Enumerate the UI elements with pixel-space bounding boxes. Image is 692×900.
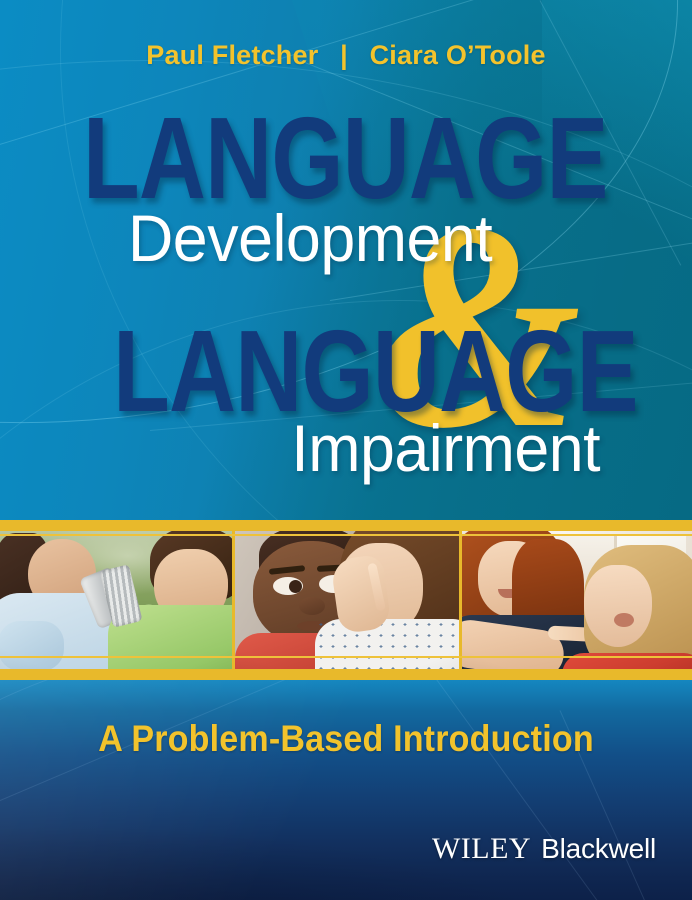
photo-strip-rule-top [0, 534, 692, 536]
mouth [614, 613, 634, 627]
title-line-1-development: Development [128, 205, 492, 271]
lower-panel [0, 680, 692, 900]
title-block: & LANGUAGE Development LANGUAGE Impairme… [0, 105, 692, 505]
book-cover: Paul Fletcher | Ciara O’Toole & LANGUAGE… [0, 0, 692, 900]
author-name-primary: Paul Fletcher [146, 40, 318, 70]
photo-strip-inner [0, 531, 692, 669]
photo-whispering-children [232, 531, 462, 669]
authors-line: Paul Fletcher | Ciara O’Toole [0, 40, 692, 71]
publisher-logo: WILEY Blackwell [432, 832, 656, 866]
iris-left [289, 580, 302, 593]
title-line-1-language: LANGUAGE [83, 109, 608, 209]
title-line-2-impairment: Impairment [291, 415, 600, 481]
photo-3-scene [462, 531, 692, 669]
publisher-name-blackwell: Blackwell [541, 833, 656, 865]
author-name-secondary: Ciara O’Toole [370, 40, 546, 70]
sleeve [0, 621, 64, 669]
photo-2-scene [235, 531, 459, 669]
publisher-name-wiley: WILEY [432, 832, 531, 866]
photo-therapy-session [462, 531, 692, 669]
photo-3-child [568, 549, 692, 669]
photo-1-scene [0, 531, 232, 669]
author-separator: | [326, 40, 362, 71]
photo-tin-can-telephone [0, 531, 232, 669]
photo-strip-rule-bottom [0, 656, 692, 658]
title-line-2-language: LANGUAGE [113, 322, 638, 422]
photo-2-girl-whispering [315, 531, 462, 669]
subtitle: A Problem-Based Introduction [28, 718, 665, 760]
face [584, 565, 652, 647]
polka-dots [315, 619, 462, 669]
